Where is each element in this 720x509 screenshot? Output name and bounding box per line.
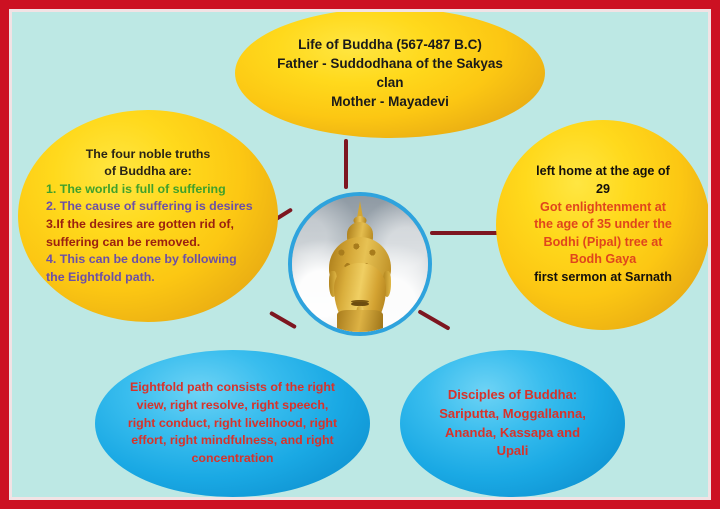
node-enlightenment[interactable]: left home at the age of 29 Got enlighten… xyxy=(496,120,710,330)
node-disciples-text: Disciples of Buddha: Sariputta, Moggalla… xyxy=(400,386,625,462)
text-line: effort, right mindfulness, and right xyxy=(101,432,364,450)
text-line: 29 xyxy=(502,181,704,199)
buddha-head-photo[interactable] xyxy=(288,192,432,336)
text-line: 3.If the desires are gotten rid of, xyxy=(24,216,272,234)
text-line: concentration xyxy=(101,450,364,468)
text-line: Father - Suddodhana of the Sakyas xyxy=(241,54,539,73)
text-line: of Buddha are: xyxy=(24,163,272,181)
text-line: right conduct, right livelihood, right xyxy=(101,415,364,433)
node-eightfold-path-text: Eightfold path consists of the right vie… xyxy=(95,379,370,468)
text-line: Upali xyxy=(406,442,619,461)
connector-top xyxy=(344,139,348,189)
text-line: Life of Buddha (567-487 B.C) xyxy=(241,35,539,54)
node-four-noble-truths-text: The four noble truths of Buddha are: 1. … xyxy=(18,146,278,287)
node-four-noble-truths[interactable]: The four noble truths of Buddha are: 1. … xyxy=(18,110,278,322)
buddha-statue-illustration xyxy=(292,196,428,332)
text-line: suffering can be removed. xyxy=(24,234,272,252)
text-line: 2. The cause of suffering is desires xyxy=(24,198,272,216)
node-eightfold-path[interactable]: Eightfold path consists of the right vie… xyxy=(95,350,370,497)
text-line: Disciples of Buddha: xyxy=(406,386,619,405)
node-life-of-buddha-text: Life of Buddha (567-487 B.C) Father - Su… xyxy=(235,35,545,112)
text-line: 1. The world is full of suffering xyxy=(24,181,272,199)
node-enlightenment-text: left home at the age of 29 Got enlighten… xyxy=(496,163,710,286)
node-disciples[interactable]: Disciples of Buddha: Sariputta, Moggalla… xyxy=(400,350,625,497)
text-line: Eightfold path consists of the right xyxy=(101,379,364,397)
text-line: The four noble truths xyxy=(24,146,272,164)
text-line: Bodhi (Pipal) tree at xyxy=(502,234,704,252)
buddha-mind-map: Life of Buddha (567-487 B.C) Father - Su… xyxy=(0,0,720,509)
text-line: the Eightfold path. xyxy=(24,269,272,287)
node-life-of-buddha[interactable]: Life of Buddha (567-487 B.C) Father - Su… xyxy=(235,8,545,138)
text-line: the age of 35 under the xyxy=(502,216,704,234)
text-line: Bodh Gaya xyxy=(502,251,704,269)
text-line: view, right resolve, right speech, xyxy=(101,397,364,415)
text-line: 4. This can be done by following xyxy=(24,251,272,269)
text-line: Got enlightenment at xyxy=(502,199,704,217)
text-line: left home at the age of xyxy=(502,163,704,181)
neck xyxy=(337,310,383,332)
text-line: Mother - Mayadevi xyxy=(241,92,539,111)
text-line: Sariputta, Moggallanna, xyxy=(406,405,619,424)
text-line: clan xyxy=(241,73,539,92)
text-line: first sermon at Sarnath xyxy=(502,269,704,287)
connector-right xyxy=(430,231,502,235)
text-line: Ananda, Kassapa and xyxy=(406,424,619,443)
